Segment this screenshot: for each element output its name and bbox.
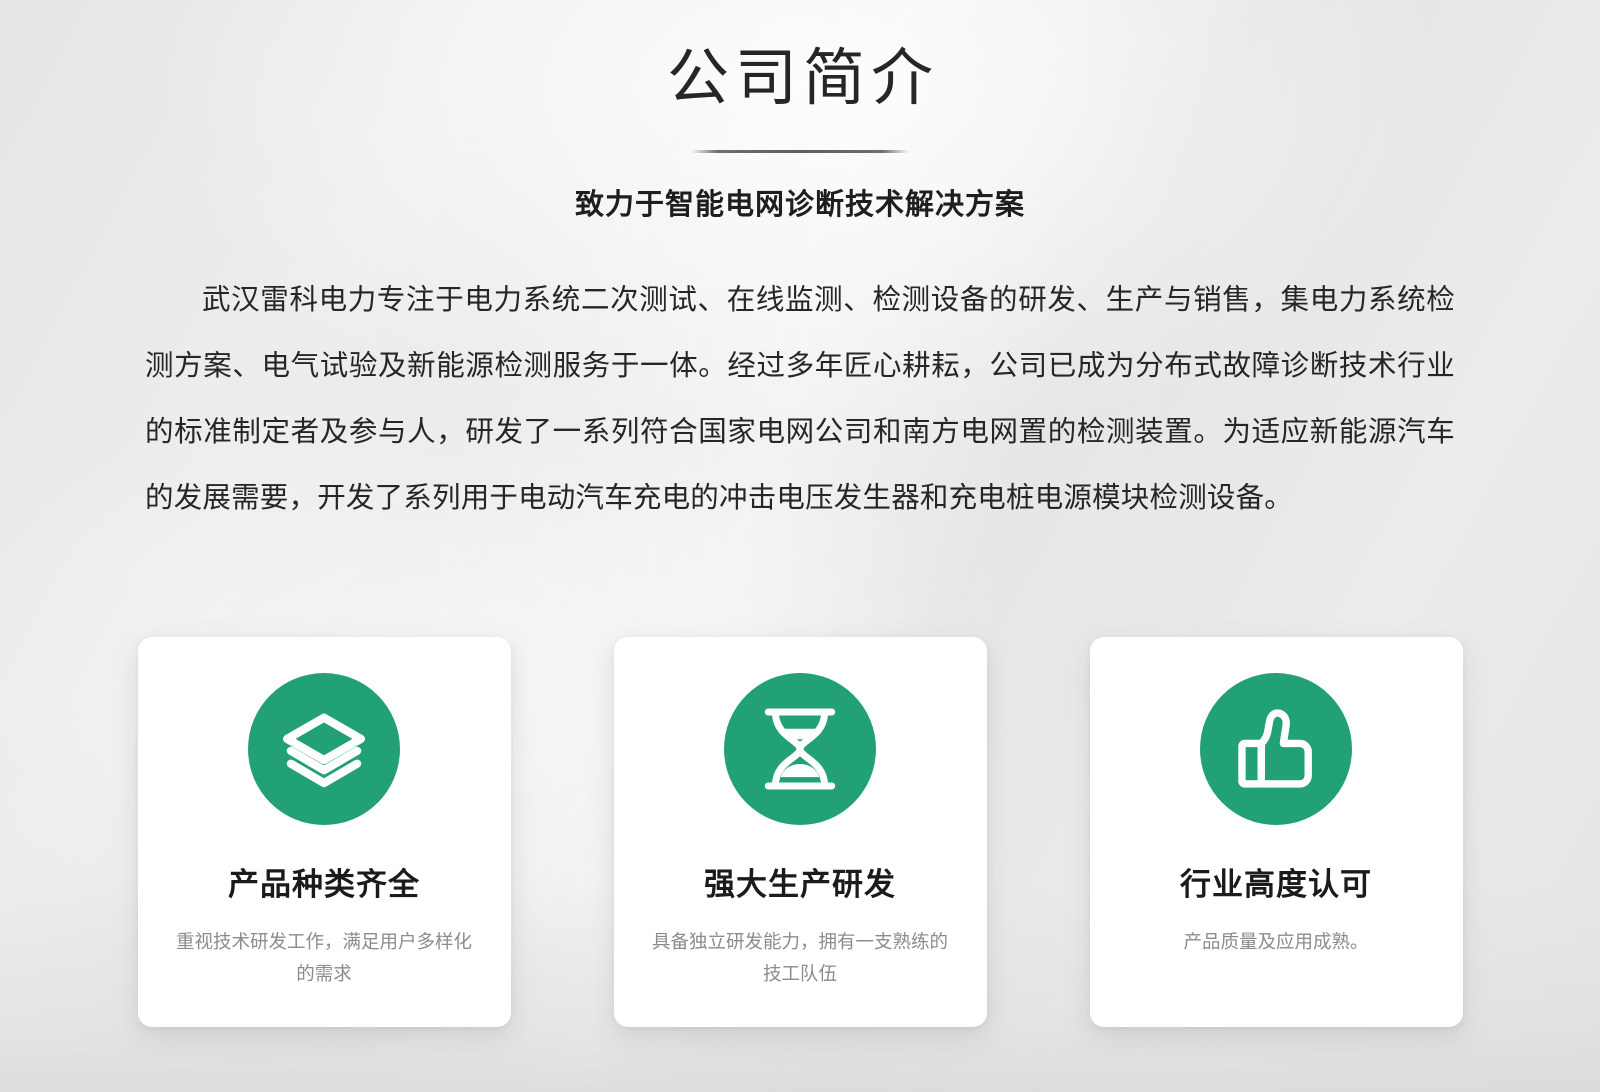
title-divider — [691, 150, 909, 153]
hourglass-icon — [724, 673, 876, 825]
layers-icon — [248, 673, 400, 825]
feature-card-list: 产品种类齐全 重视技术研发工作，满足用户多样化的需求 — [0, 637, 1600, 1027]
page-subtitle: 致力于智能电网诊断技术解决方案 — [0, 181, 1600, 223]
feature-card[interactable]: 强大生产研发 具备独立研发能力，拥有一支熟练的技工队伍 — [614, 637, 987, 1027]
page-title: 公司简介 — [0, 46, 1600, 113]
page-header: 公司简介 致力于智能电网诊断技术解决方案 — [0, 0, 1600, 223]
feature-card-description: 重视技术研发工作，满足用户多样化的需求 — [174, 926, 474, 990]
feature-card-title: 产品种类齐全 — [228, 859, 420, 904]
feature-card-description: 产品质量及应用成熟。 — [1126, 926, 1426, 958]
feature-card-description: 具备独立研发能力，拥有一支熟练的技工队伍 — [650, 926, 950, 990]
company-intro-paragraph: 武汉雷科电力专注于电力系统二次测试、在线监测、检测设备的研发、生产与销售，集电力… — [145, 267, 1455, 531]
feature-card-title: 强大生产研发 — [704, 859, 896, 904]
thumbs-up-icon — [1200, 673, 1352, 825]
feature-card[interactable]: 产品种类齐全 重视技术研发工作，满足用户多样化的需求 — [138, 637, 511, 1027]
company-intro-page: 公司简介 致力于智能电网诊断技术解决方案 武汉雷科电力专注于电力系统二次测试、在… — [0, 0, 1600, 1092]
feature-card-title: 行业高度认可 — [1180, 859, 1372, 904]
feature-card[interactable]: 行业高度认可 产品质量及应用成熟。 — [1090, 637, 1463, 1027]
